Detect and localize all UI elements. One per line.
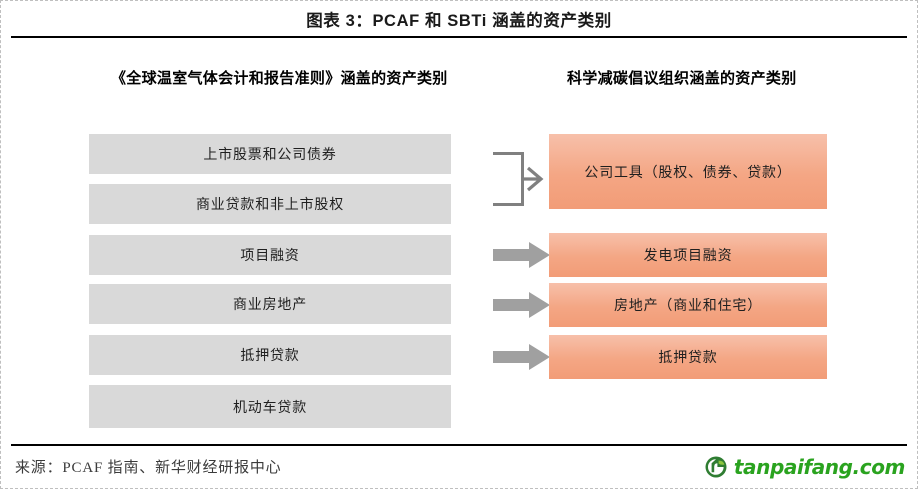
left-item-label: 商业贷款和非上市股权 bbox=[196, 194, 344, 214]
arrow-right-icon bbox=[520, 165, 550, 193]
footer-divider-rule bbox=[11, 444, 907, 446]
title-divider-rule bbox=[11, 36, 907, 38]
right-item-real-estate[interactable]: 房地产（商业和住宅） bbox=[549, 283, 827, 327]
site-logo-text: tanpaifang.com bbox=[734, 455, 905, 479]
right-item-corporate-instruments[interactable]: 公司工具（股权、债券、贷款） bbox=[549, 134, 827, 209]
arrow-right-icon bbox=[493, 344, 550, 370]
figure-title: 图表 3：PCAF 和 SBTi 涵盖的资产类别 bbox=[306, 7, 612, 31]
left-item-label: 机动车贷款 bbox=[233, 397, 307, 417]
bracket-bottom-segment bbox=[493, 203, 524, 206]
left-item-label: 抵押贷款 bbox=[240, 345, 299, 365]
left-item-commercial-real-estate[interactable]: 商业房地产 bbox=[89, 284, 451, 324]
right-item-label: 公司工具（股权、债券、贷款） bbox=[584, 162, 791, 182]
right-item-mortgage[interactable]: 抵押贷款 bbox=[549, 335, 827, 379]
right-item-label: 发电项目融资 bbox=[644, 245, 733, 265]
arrow-right-icon bbox=[493, 242, 550, 268]
left-item-label: 商业房地产 bbox=[233, 294, 307, 314]
right-item-power-generation-project-finance[interactable]: 发电项目融资 bbox=[549, 233, 827, 277]
figure-container: 图表 3：PCAF 和 SBTi 涵盖的资产类别 《全球温室气体会计和报告准则》… bbox=[0, 0, 918, 489]
left-item-motor-vehicle-loans[interactable]: 机动车贷款 bbox=[89, 385, 451, 428]
source-note: 来源：PCAF 指南、新华财经研报中心 bbox=[15, 456, 281, 477]
right-column-header: 科学减碳倡议组织涵盖的资产类别 bbox=[567, 67, 817, 91]
figure-title-bar: 图表 3：PCAF 和 SBTi 涵盖的资产类别 bbox=[1, 1, 917, 36]
bracket-top-segment bbox=[493, 152, 524, 155]
left-item-mortgage[interactable]: 抵押贷款 bbox=[89, 335, 451, 375]
arrow-right-icon bbox=[493, 292, 550, 318]
left-item-label: 上市股票和公司债券 bbox=[203, 144, 336, 164]
left-item-business-loans-unlisted-equity[interactable]: 商业贷款和非上市股权 bbox=[89, 184, 451, 224]
right-item-label: 房地产（商业和住宅） bbox=[614, 295, 762, 315]
left-item-listed-equity-corporate-bonds[interactable]: 上市股票和公司债券 bbox=[89, 134, 451, 174]
right-item-label: 抵押贷款 bbox=[658, 347, 717, 367]
left-column-header: 《全球温室气体会计和报告准则》涵盖的资产类别 bbox=[111, 67, 461, 91]
left-item-label: 项目融资 bbox=[240, 245, 299, 265]
leaf-circle-icon bbox=[705, 456, 727, 478]
left-item-project-finance[interactable]: 项目融资 bbox=[89, 235, 451, 275]
site-logo[interactable]: tanpaifang.com bbox=[705, 455, 905, 479]
